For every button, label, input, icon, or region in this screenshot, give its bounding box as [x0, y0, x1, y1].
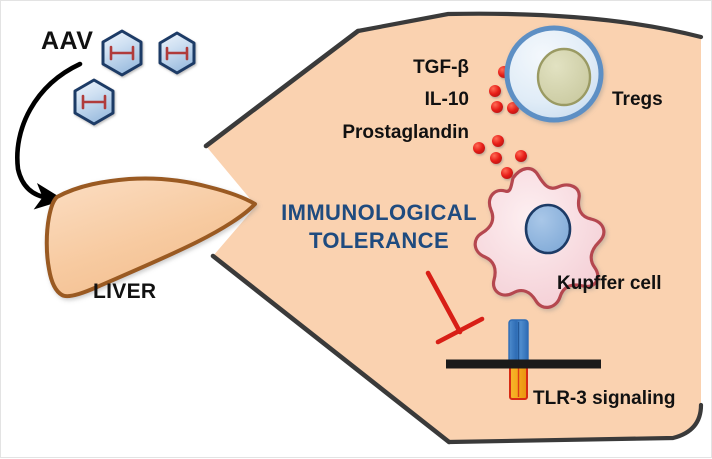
immunological-tolerance-label: IMMUNOLOGICAL TOLERANCE — [263, 199, 495, 254]
il10-label: IL-10 — [425, 90, 469, 109]
tlr3-signaling-label: TLR-3 signaling — [533, 389, 676, 408]
prostaglandin-label: Prostaglandin — [342, 123, 469, 142]
aav-capsid — [75, 80, 113, 124]
aav-label: AAV — [41, 29, 93, 54]
liver-label: LIVER — [93, 281, 156, 302]
aav-capsid — [160, 33, 194, 73]
infection-arrow — [17, 64, 80, 198]
kupffer-cell-label: Kupffer cell — [557, 274, 662, 293]
aav-capsid — [103, 31, 141, 75]
liver-organ — [47, 178, 255, 296]
tolerance-line-2: TOLERANCE — [263, 227, 495, 255]
tregs-label: Tregs — [612, 90, 663, 109]
tgf-beta-label: TGF-β — [413, 58, 469, 77]
figure-container: AAV LIVER TGF-β IL-10 Prostaglandin Treg… — [0, 0, 712, 458]
tolerance-line-1: IMMUNOLOGICAL — [263, 199, 495, 227]
tregs-cell — [507, 28, 601, 120]
